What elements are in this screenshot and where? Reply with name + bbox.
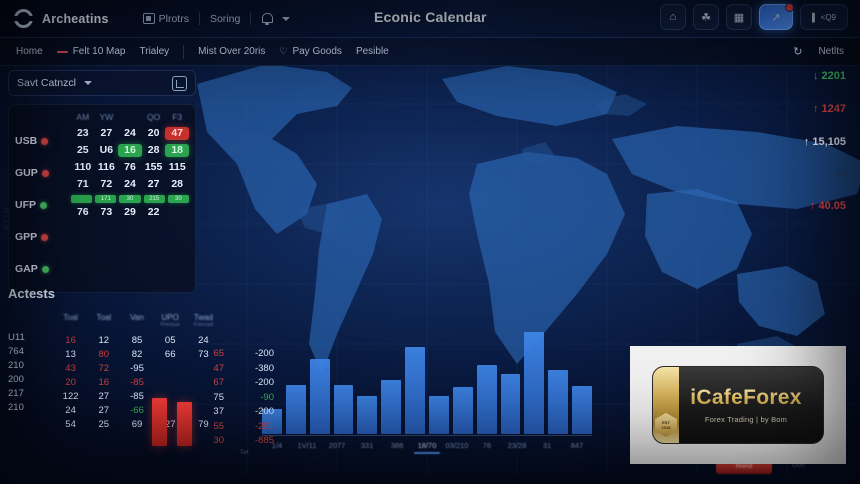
quotes-grid-row: 25 U6 16 28 18 xyxy=(71,144,189,157)
cell: 12 xyxy=(87,335,120,346)
chip xyxy=(71,195,92,203)
grid-cell: 23 xyxy=(71,127,95,140)
grid-cell: 115 xyxy=(165,161,189,174)
bar[interactable] xyxy=(524,332,544,434)
table-row[interactable]: 122 27 -85 xyxy=(54,391,220,402)
side-value-b: -90 xyxy=(230,392,274,403)
bar[interactable] xyxy=(334,385,354,434)
bell-icon xyxy=(261,13,272,25)
cell xyxy=(154,363,187,374)
cell: -95 xyxy=(120,363,153,374)
side-value-b: -200 xyxy=(230,406,274,417)
quotes-grid-header: AM YW QO F3 xyxy=(71,112,189,122)
row-label xyxy=(8,416,50,430)
stat-value-faint: · 35 xyxy=(750,169,846,179)
calendar-icon[interactable]: ▦ xyxy=(726,4,752,30)
currency-row-ufp[interactable]: UFP xyxy=(15,190,67,220)
x-tick: 2077 xyxy=(322,441,352,454)
stats-label: <Q9 xyxy=(821,13,836,22)
currency-list: USB GUP UFP GPP GAP xyxy=(15,112,67,284)
subnav-right-label[interactable]: Netlts xyxy=(818,46,844,57)
chip: 171 xyxy=(95,195,116,203)
cell: 25 xyxy=(87,419,120,430)
stat-value-up: ↓ 2201 xyxy=(750,70,846,82)
cell: 24 xyxy=(187,335,220,346)
side-value-a: 65 xyxy=(204,348,224,359)
x-tick: 03/210 xyxy=(442,441,472,454)
col-toal-2: Toal xyxy=(87,313,120,328)
side-value-a: 67 xyxy=(204,377,224,388)
subnav-item-pay-goods[interactable]: ♡ Pay Goods xyxy=(279,46,342,57)
subnav-item-home-label: Home xyxy=(16,46,43,57)
grid-cell: 76 xyxy=(118,161,142,174)
refresh-icon[interactable]: ↻ xyxy=(793,45,802,58)
col-blank xyxy=(118,112,142,122)
cell: -85 xyxy=(120,377,153,388)
chevron-down-icon xyxy=(84,81,92,85)
grid-cell: 72 xyxy=(95,178,119,191)
cell: 20 xyxy=(54,377,87,388)
grid-cell: 73 xyxy=(95,206,119,219)
side-values-footer: Twt xyxy=(204,450,284,456)
top-menu-item-plrotrs[interactable]: Plrotrs xyxy=(143,13,189,25)
table-row[interactable]: 24 27 -66 xyxy=(54,405,220,416)
cell: 27 xyxy=(87,391,120,402)
account-selector-value: Savt Catnzcl xyxy=(17,77,76,89)
side-value-b: -885 xyxy=(230,435,274,446)
grid-cell: 22 xyxy=(142,206,166,219)
cell: -66 xyxy=(120,405,153,416)
x-tick: 331 xyxy=(352,441,382,454)
grid-cell: 24 xyxy=(118,127,142,140)
chip: 30 xyxy=(119,195,140,203)
subnav-item-trialey-label: Trialey xyxy=(140,46,170,57)
quotes-panel: USB GUP UFP GPP GAP xyxy=(8,104,196,293)
cell: 43 xyxy=(54,363,87,374)
side-value-row: 30 -885 xyxy=(204,435,284,446)
side-value-b: -200 xyxy=(230,377,274,388)
chart-axis xyxy=(262,435,592,436)
currency-label: GAP xyxy=(15,263,38,275)
col-twad: TwadForecast xyxy=(187,313,220,328)
divider xyxy=(199,12,200,25)
subnav-item-felt-10-map-label: Felt 10 Map xyxy=(73,46,126,57)
status-dot-down xyxy=(42,170,49,177)
bar[interactable] xyxy=(572,386,592,434)
bar[interactable] xyxy=(310,359,330,434)
logo-icon xyxy=(14,9,33,28)
side-values: 65 -200 47 -380 67 -200 75 -90 37 -200 5… xyxy=(204,348,284,456)
grid-cell: 116 xyxy=(95,161,119,174)
cell: 82 xyxy=(120,349,153,360)
currency-label: GUP xyxy=(15,167,38,179)
top-bar: Archeatins Plrotrs Soring Econic Calenda… xyxy=(0,0,860,38)
cell: 72 xyxy=(87,363,120,374)
cell: 13 xyxy=(54,349,87,360)
gift-icon[interactable]: ☘ xyxy=(693,4,719,30)
grid-cell: 76 xyxy=(71,206,95,219)
x-tick-active: 18/70 xyxy=(412,441,442,454)
grid-cell: U6 xyxy=(95,144,119,157)
sub-nav: Home Felt 10 Map Trialey Mist Over 20ris… xyxy=(0,38,860,66)
grid-cell: 27 xyxy=(142,178,166,191)
grid-cell xyxy=(165,206,189,219)
col-qo: QO xyxy=(142,112,166,122)
grid-cell-highlight-up: 16 xyxy=(118,144,142,157)
subnav-item-trialey[interactable]: Trialey xyxy=(140,46,170,57)
currency-label: USB xyxy=(15,135,37,147)
stat-value-down: ↑ 40.05 xyxy=(750,200,846,212)
left-column: Savt Catnzcl USB GUP UFP GPP xyxy=(8,70,196,293)
currency-label: UFP xyxy=(15,199,36,211)
col-yw: YW xyxy=(95,112,119,122)
grid-cell: 29 xyxy=(118,206,142,219)
x-tick: 23/28 xyxy=(502,441,532,454)
x-tick: 847 xyxy=(562,441,592,454)
row-label: 217 xyxy=(8,388,50,402)
watermark-card: EST 2018 iCafeForex Forex Trading | by B… xyxy=(652,366,824,444)
notification-badge xyxy=(785,3,794,12)
side-value-a: 30 xyxy=(204,435,224,446)
bar[interactable] xyxy=(381,380,401,434)
results-title: Actests xyxy=(8,286,220,301)
status-dot-up xyxy=(42,266,49,273)
cell: 66 xyxy=(154,349,187,360)
side-value-row: 37 -200 xyxy=(204,406,284,417)
headset-icon[interactable]: ⌂ xyxy=(660,4,686,30)
grid-cell: 24 xyxy=(118,178,142,191)
cell: 122 xyxy=(54,391,87,402)
cell: 24 xyxy=(54,405,87,416)
quotes-grid-row: 23 27 24 20 47 xyxy=(71,127,189,140)
chart-icon[interactable]: ↗ xyxy=(759,4,793,30)
right-stat-rail: ↓ 2201 ↑ 1247 ↑ 15,105 · 35 ↑ 40.05 xyxy=(750,70,846,233)
subnav-item-pesible[interactable]: Pesible xyxy=(356,46,389,57)
red-bar xyxy=(177,402,192,446)
cell: -85 xyxy=(120,391,153,402)
subnav-item-pesible-label: Pesible xyxy=(356,46,389,57)
heart-icon: ♡ xyxy=(279,46,287,57)
red-bar xyxy=(152,398,167,446)
bar-chart-bars xyxy=(262,330,592,434)
subnav-right: ↻ Netlts xyxy=(793,45,844,58)
top-menu: Plrotrs Soring xyxy=(143,12,291,25)
side-value-row: 75 -90 xyxy=(204,392,284,403)
cell: 80 xyxy=(87,349,120,360)
table-row[interactable]: 13 80 82 66 73 xyxy=(54,349,220,360)
cell: 16 xyxy=(87,377,120,388)
col-am: AM xyxy=(71,112,95,122)
status-dot-down xyxy=(41,234,48,241)
grid-cell: 27 xyxy=(95,127,119,140)
subnav-item-pay-goods-label: Pay Goods xyxy=(292,46,341,57)
divider xyxy=(250,12,251,25)
brand-name: Archeatins xyxy=(42,12,109,26)
est-badge-line2: 2018 xyxy=(662,425,671,430)
x-tick: 1V/11 xyxy=(292,441,322,454)
side-value-row: 65 -200 xyxy=(204,348,284,359)
x-tick: 31 xyxy=(532,441,562,454)
side-value-a: 47 xyxy=(204,363,224,374)
table-row[interactable]: 54 25 69 27 79 xyxy=(54,419,220,430)
grid-cell: 20 xyxy=(142,127,166,140)
results-header: Toal Toal Van UPOPrevious TwadForecast xyxy=(54,313,220,328)
grid-cell-highlight-down: 47 xyxy=(165,127,189,140)
stats-icon[interactable]: ▌ <Q9 xyxy=(800,4,848,30)
side-value-row: 47 -380 xyxy=(204,363,284,374)
row-label: 764 xyxy=(8,346,50,360)
chip: 30 xyxy=(168,195,189,203)
row-label: 210 xyxy=(8,360,50,374)
grid-cell: 28 xyxy=(142,144,166,157)
col-f3: F3 xyxy=(165,112,189,122)
cell: 54 xyxy=(54,419,87,430)
bar[interactable] xyxy=(477,365,497,434)
grid-cell: 155 xyxy=(142,161,166,174)
bar[interactable] xyxy=(548,370,568,434)
top-icon-row: ⌂ ☘ ▦ ↗ ▌ <Q9 xyxy=(660,4,848,30)
quotes-grid-row: 76 73 29 22 xyxy=(71,206,189,219)
side-value-a: 37 xyxy=(204,406,224,417)
subnav-item-mist-over[interactable]: Mist Over 20ris xyxy=(198,46,265,57)
side-value-a: 75 xyxy=(204,392,224,403)
chevron-down-icon xyxy=(282,17,290,21)
side-value-row: 55 -251 xyxy=(204,421,284,432)
chip: 215 xyxy=(144,195,165,203)
watermark-tagline: Forex Trading | by Bom xyxy=(705,415,787,424)
grid-cell: 28 xyxy=(165,178,189,191)
cell: 85 xyxy=(120,335,153,346)
col-upo: UPOPrevious xyxy=(154,313,187,328)
results-row-labels: U11 764 210 200 217 210 xyxy=(8,313,50,433)
table-row[interactable]: 16 12 85 05 24 xyxy=(54,335,220,346)
bar[interactable] xyxy=(357,396,377,434)
app-root: Archeatins Plrotrs Soring Econic Calenda… xyxy=(0,0,860,484)
status-dot-down xyxy=(41,138,48,145)
x-tick: 76 xyxy=(472,441,502,454)
top-menu-notifications[interactable] xyxy=(261,13,272,25)
export-icon[interactable] xyxy=(172,76,187,91)
watermark-title: iCafeForex xyxy=(690,386,802,410)
grid-cell: 71 xyxy=(71,178,95,191)
side-value-a: 55 xyxy=(204,421,224,432)
grid-cell: 110 xyxy=(71,161,95,174)
chart-glyph: ↗ xyxy=(771,11,780,24)
bar[interactable] xyxy=(429,396,449,434)
brand[interactable]: Archeatins xyxy=(14,9,109,28)
subnav-item-felt-10-map[interactable]: Felt 10 Map xyxy=(57,46,126,57)
panel-icon xyxy=(143,13,155,24)
bar[interactable] xyxy=(405,347,425,434)
currency-row-usb[interactable]: USB xyxy=(15,126,67,156)
stats-glyph: ▌ xyxy=(812,13,818,22)
bar-chart: 1/4 1V/11 2077 331 388 18/70 03/210 76 2… xyxy=(262,330,592,456)
red-indicator-bars xyxy=(152,388,192,446)
row-label: 200 xyxy=(8,374,50,388)
quotes-chip-row: 171 30 215 30 xyxy=(71,195,189,203)
side-value-b: -380 xyxy=(230,363,274,374)
col-van: Van xyxy=(120,313,153,328)
gift-glyph: ☘ xyxy=(701,11,711,24)
top-menu-more[interactable] xyxy=(282,17,290,21)
subnav-item-mist-over-label: Mist Over 20ris xyxy=(198,46,265,57)
quotes-grid-row: 71 72 24 27 28 xyxy=(71,178,189,191)
cell: 16 xyxy=(54,335,87,346)
cell xyxy=(154,377,187,388)
grid-cell-highlight-up: 18 xyxy=(165,144,189,157)
chart-x-labels: 1/4 1V/11 2077 331 388 18/70 03/210 76 2… xyxy=(262,441,592,454)
results-cells: Toal Toal Van UPOPrevious TwadForecast 1… xyxy=(54,313,220,433)
top-menu-item-soring-label: Soring xyxy=(210,13,240,25)
cell: 27 xyxy=(87,405,120,416)
cell: 05 xyxy=(154,335,187,346)
top-menu-item-soring[interactable]: Soring xyxy=(210,13,240,25)
quotes-grid: AM YW QO F3 23 27 24 20 47 25 U6 16 xyxy=(71,112,189,284)
stat-value-down: ↑ 1247 xyxy=(750,103,846,115)
side-value-row: 67 -200 xyxy=(204,377,284,388)
side-value-b: -200 xyxy=(230,348,274,359)
top-menu-item-plrotrs-label: Plrotrs xyxy=(159,13,189,25)
dash-icon xyxy=(57,51,68,53)
row-label: 210 xyxy=(8,402,50,416)
stat-value-neutral: ↑ 15,105 xyxy=(750,136,846,148)
calendar-glyph: ▦ xyxy=(734,11,744,24)
headset-glyph: ⌂ xyxy=(670,11,677,23)
bar[interactable] xyxy=(453,387,473,434)
cell: 69 xyxy=(120,419,153,430)
currency-row-gup[interactable]: GUP xyxy=(15,158,67,188)
account-selector[interactable]: Savt Catnzcl xyxy=(8,70,196,96)
row-label: U11 xyxy=(8,332,50,346)
currency-row-gpp[interactable]: GPP xyxy=(15,222,67,252)
watermark-overlay: EST 2018 iCafeForex Forex Trading | by B… xyxy=(630,346,846,464)
currency-row-gap[interactable]: GAP xyxy=(15,254,67,284)
subnav-item-home[interactable]: Home xyxy=(16,46,43,57)
bar[interactable] xyxy=(286,385,306,434)
currency-label: GPP xyxy=(15,231,37,243)
bar[interactable] xyxy=(501,374,521,434)
table-row[interactable]: 43 72 -95 xyxy=(54,363,220,374)
table-row[interactable]: 20 16 -85 xyxy=(54,377,220,388)
side-value-b: -251 xyxy=(230,421,274,432)
status-dot-up xyxy=(40,202,47,209)
quotes-grid-row: 110 116 76 155 115 xyxy=(71,161,189,174)
col-toal-1: Toal xyxy=(54,313,87,328)
page-title: Econic Calendar xyxy=(374,9,487,25)
grid-cell: 25 xyxy=(71,144,95,157)
x-tick: 388 xyxy=(382,441,412,454)
divider xyxy=(183,45,184,59)
